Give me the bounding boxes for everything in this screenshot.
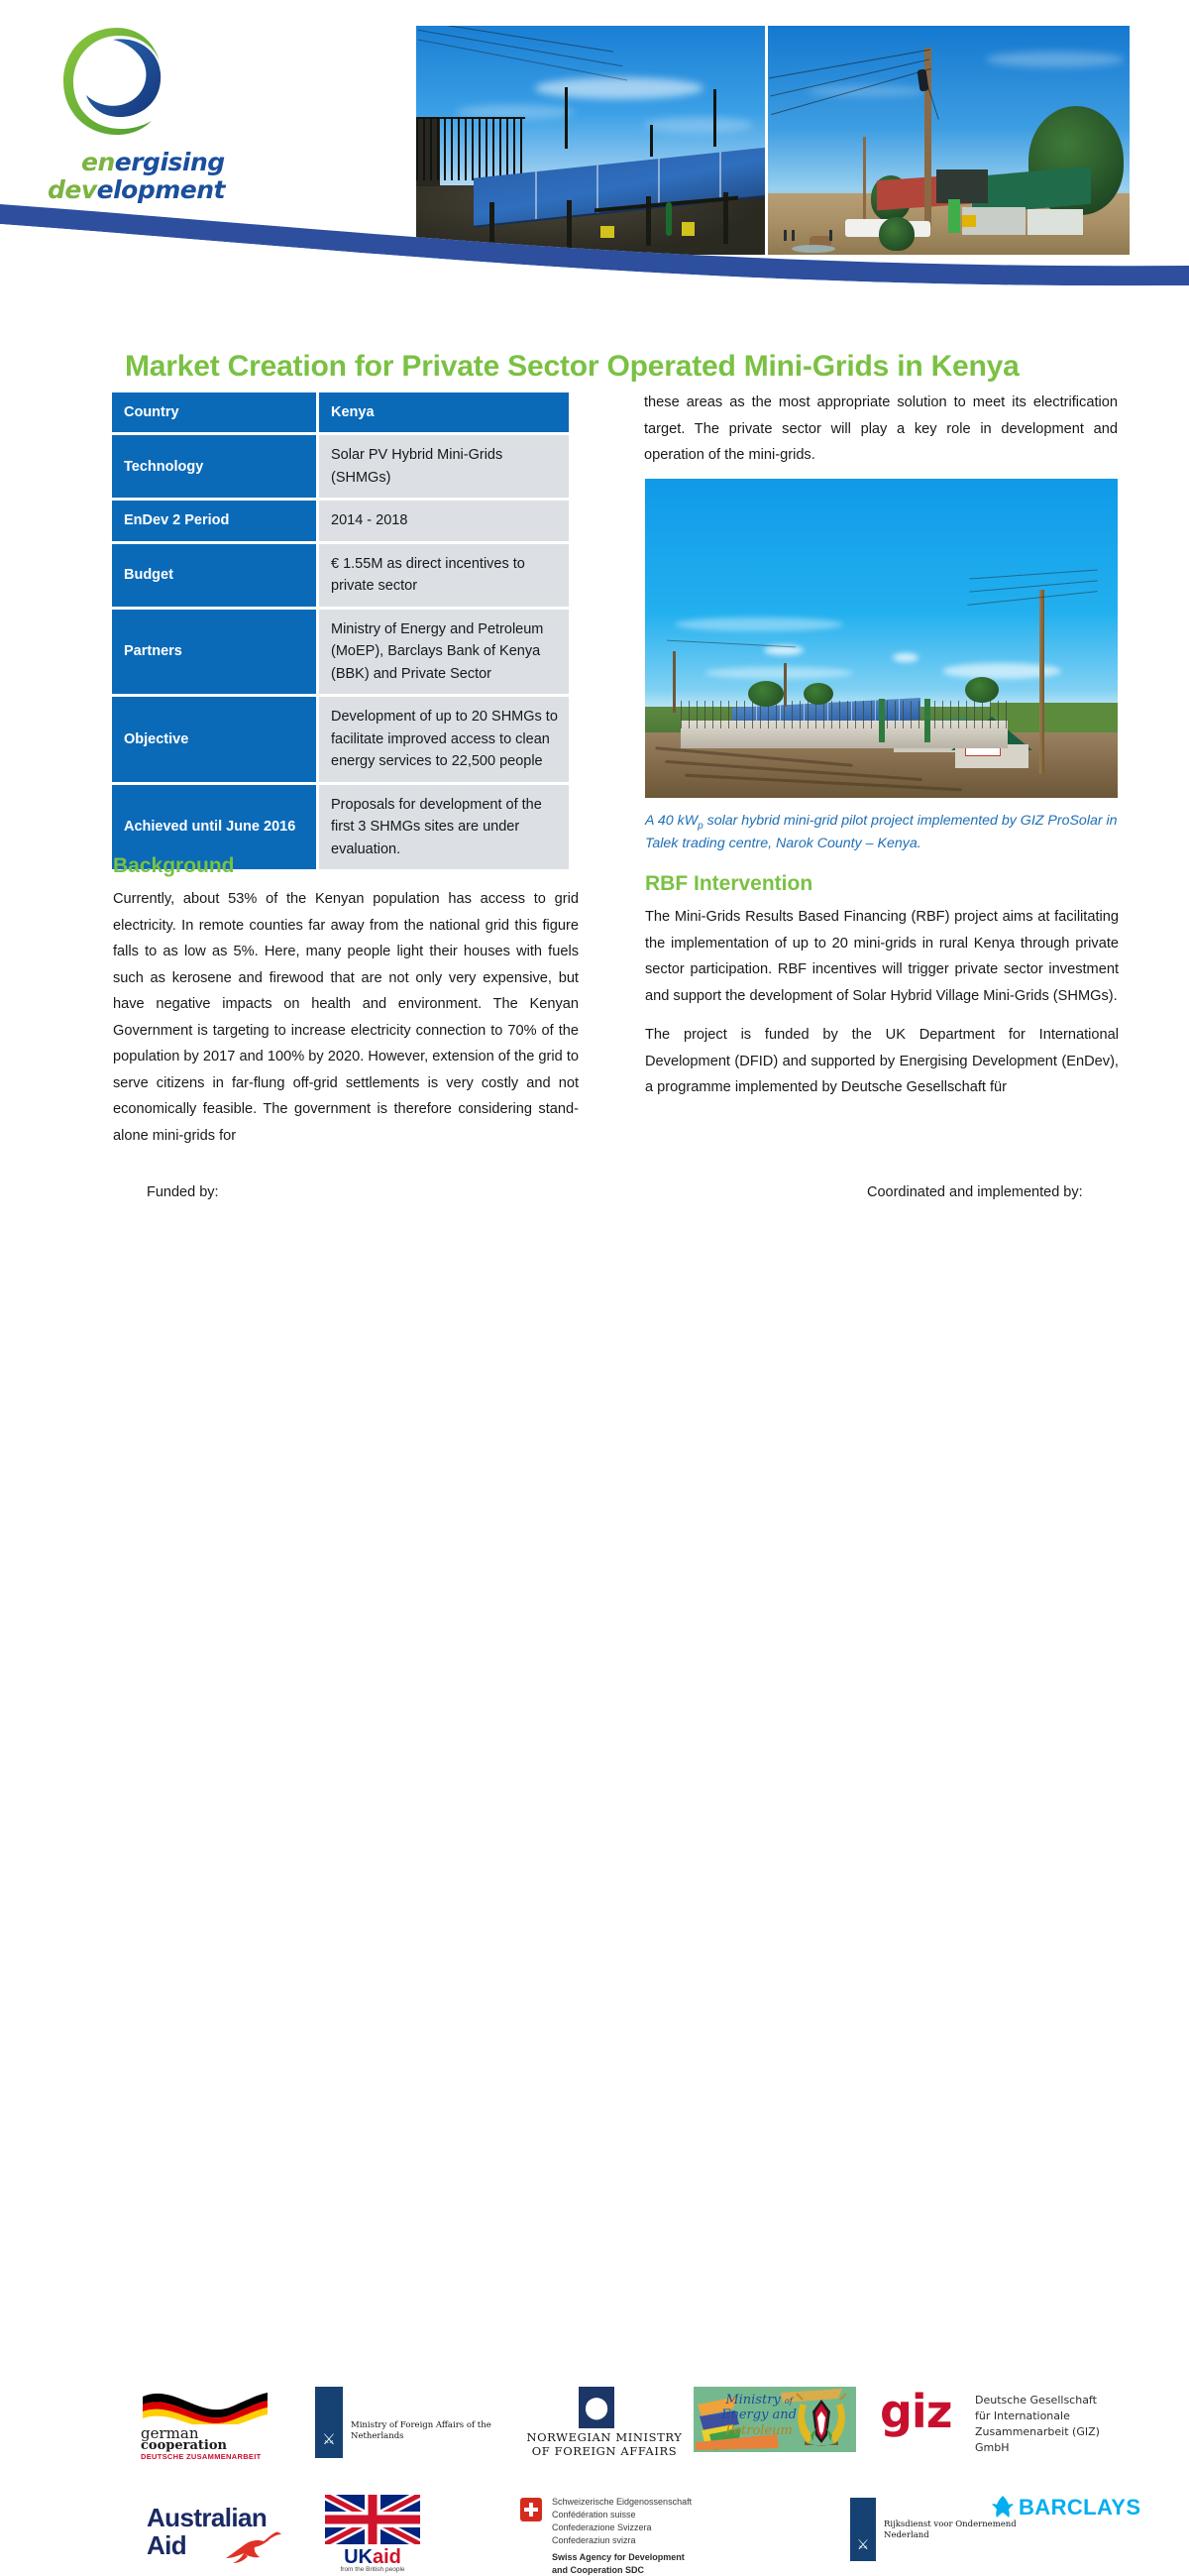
barclays-eagle-icon [991,2495,1015,2519]
rbf-paragraph-1: The Mini-Grids Results Based Financing (… [645,904,1119,1009]
background-heading: Background [113,854,579,878]
kenya-coat-of-arms-icon [793,2392,850,2447]
talek-minigrid-photo [645,479,1118,798]
table-row: PartnersMinistry of Energy and Petroleum… [112,610,569,694]
logo-kenya-moep: Ministry of Energy and Petroleum [694,2387,856,2452]
logo-australian-aid: Australian Aid [147,2503,345,2564]
rbf-heading: RBF Intervention [645,872,1119,896]
logo-norwegian-mfa: ⬤ NORWEGIAN MINISTRY OF FOREIGN AFFAIRS [525,2387,684,2458]
table-row-value: € 1.55M as direct incentives to private … [319,544,569,607]
giz-subtext: Deutsche Gesellschaft für Internationale… [975,2393,1108,2456]
rbf-paragraph-2: The project is funded by the UK Departme… [645,1022,1119,1101]
norwegian-mfa-line2: OF FOREIGN AFFAIRS [525,2444,684,2458]
logo-german-cooperation: german cooperation DEUTSCHE ZUSAMMENARBE… [141,2387,270,2458]
swiss-cross-icon [520,2498,542,2521]
project-info-table: CountryKenyaTechnologySolar PV Hybrid Mi… [112,390,569,872]
swiss-sdc-agency: Swiss Agency for Development and Coopera… [552,2551,685,2576]
table-row-value: Solar PV Hybrid Mini-Grids (SHMGs) [319,435,569,498]
project-info-table-wrap: CountryKenyaTechnologySolar PV Hybrid Mi… [112,390,569,872]
table-row-key: Budget [112,544,319,607]
caption-post: solar hybrid mini-grid pilot project imp… [645,813,1118,851]
barclays-wordmark: BARCLAYS [1019,2495,1140,2520]
background-paragraph: Currently, about 53% of the Kenyan popul… [113,886,579,1149]
kenya-moep-line1: Ministry [725,2393,780,2408]
table-row-value: Development of up to 20 SHMGs to facilit… [319,697,569,781]
uk-aid-aid: aid [373,2546,401,2568]
logo-swiss-sdc: Schweizerische Eidgenossenschaft Confédé… [520,2496,798,2573]
netherlands-mfa-text: Ministry of Foreign Affairs of the Nethe… [351,2420,499,2442]
giz-line2: für Internationale [975,2408,1108,2424]
table-row-key: EnDev 2 Period [112,501,319,540]
table-row-value: 2014 - 2018 [319,501,569,540]
logo-giz: giz Deutsche Gesellschaft für Internatio… [880,2389,1108,2450]
photo-caption: A 40 kWp solar hybrid mini-grid pilot pr… [645,811,1121,854]
table-row-key: Objective [112,697,319,781]
table-row-key: Technology [112,435,319,498]
table-row: TechnologySolar PV Hybrid Mini-Grids (SH… [112,435,569,498]
table-row-key: Country [112,392,319,432]
swiss-name-rm: Confederaziun svizra [552,2534,692,2547]
kenya-moep-line2: Energy and [721,2408,797,2422]
kenya-moep-line3: Petroleum [725,2423,793,2438]
german-coop-line2: cooperation [141,2438,227,2453]
giz-line1: Deutsche Gesellschaft [975,2393,1108,2408]
swiss-name-de: Schweizerische Eidgenossenschaft [552,2496,692,2509]
swiss-agency-line1: Swiss Agency for Development [552,2551,685,2564]
background-section: Background Currently, about 53% of the K… [113,854,579,1162]
dutch-crest-icon-2: ⚔ [854,2535,872,2553]
logo-barclays: BARCLAYS [991,2495,1130,2526]
uk-aid-subtext: from the British people [325,2566,420,2573]
dutch-crest-icon: ⚔ [320,2430,338,2450]
norwegian-lion-icon: ⬤ [583,2393,610,2422]
union-jack-icon [325,2495,420,2544]
logo-line1-rest: ergising [115,148,225,176]
swiss-name-fr: Confédération suisse [552,2509,692,2521]
table-row-value: Ministry of Energy and Petroleum (MoEP),… [319,610,569,694]
right-intro-paragraph: these areas as the most appropriate solu… [644,390,1118,469]
rvo-line2: Nederland [884,2530,1032,2541]
kenya-moep-of: of [785,2397,793,2406]
page-header: energising development [0,0,1189,287]
table-row: CountryKenya [112,392,569,432]
logo-netherlands-mfa: ⚔ Ministry of Foreign Affairs of the Net… [315,2387,503,2458]
swiss-agency-line2: and Cooperation SDC [552,2564,685,2576]
table-row-key: Partners [112,610,319,694]
table-row: ObjectiveDevelopment of up to 20 SHMGs t… [112,697,569,781]
norwegian-mfa-line1: NORWEGIAN MINISTRY [525,2430,684,2444]
footer-logos: german cooperation DEUTSCHE ZUSAMMENARBE… [0,1170,1189,1539]
german-coop-line3: DEUTSCHE ZUSAMMENARBEIT [141,2452,261,2461]
header-swoosh-divider [0,174,1189,287]
page-title: Market Creation for Private Sector Opera… [125,350,1126,384]
table-row-value: Kenya [319,392,569,432]
rbf-section: RBF Intervention The Mini-Grids Results … [645,872,1119,1114]
table-row: EnDev 2 Period2014 - 2018 [112,501,569,540]
australian-aid-line2: Aid [147,2530,186,2561]
uk-aid-uk: UK [344,2546,373,2568]
endev-globe-icon [55,22,179,146]
swiss-sdc-names: Schweizerische Eidgenossenschaft Confédé… [552,2496,692,2547]
giz-line3: Zusammenarbeit (GIZ) GmbH [975,2424,1108,2456]
german-flag-ribbon-icon [141,2387,270,2424]
right-column-intro: these areas as the most appropriate solu… [644,390,1118,469]
caption-pre: A 40 kW [645,813,698,829]
kangaroo-icon [224,2528,283,2564]
swiss-name-it: Confederazione Svizzera [552,2521,692,2534]
giz-wordmark: giz [880,2389,951,2434]
logo-uk-aid: UKaid from the British people [325,2495,434,2574]
table-row: Budget€ 1.55M as direct incentives to pr… [112,544,569,607]
